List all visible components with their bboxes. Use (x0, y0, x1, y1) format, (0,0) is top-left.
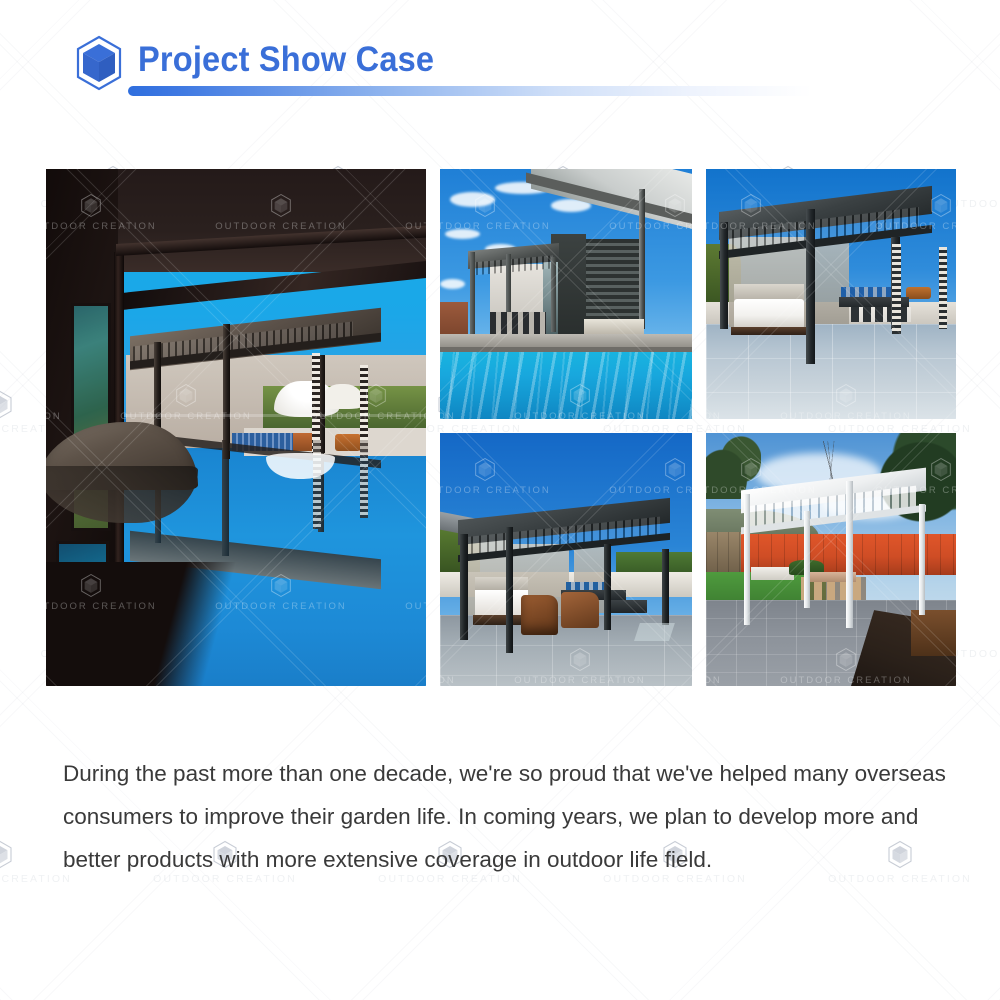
photo-bottom-right (706, 433, 956, 686)
gallery-item-main[interactable]: OUTDOOR CREATIONOUTDOOR CREATIONOUTDOOR … (46, 169, 426, 686)
gallery-item-bottom-middle[interactable]: OUTDOOR CREATIONOUTDOOR CREATIONOUTDOOR … (440, 433, 692, 686)
gallery-item-top-right[interactable]: OUTDOOR CREATIONOUTDOOR CREATIONOUTDOOR … (706, 169, 956, 419)
photo-main (46, 169, 426, 686)
title-underline-rule (128, 86, 983, 96)
photo-top-middle (440, 169, 692, 419)
page-header: Project Show Case (0, 0, 1000, 140)
cube-hexagon-icon (72, 34, 126, 92)
gallery-item-top-middle[interactable]: OUTDOOR CREATIONOUTDOOR CREATIONOUTDOOR … (440, 169, 692, 419)
photo-bottom-middle (440, 433, 692, 686)
showcase-description: During the past more than one decade, we… (63, 752, 948, 881)
photo-top-right (706, 169, 956, 419)
page-title: Project Show Case (138, 40, 434, 80)
gallery-item-bottom-right[interactable]: OUTDOOR CREATIONOUTDOOR CREATIONOUTDOOR … (706, 433, 956, 686)
project-gallery: OUTDOOR CREATIONOUTDOOR CREATIONOUTDOOR … (46, 169, 954, 686)
